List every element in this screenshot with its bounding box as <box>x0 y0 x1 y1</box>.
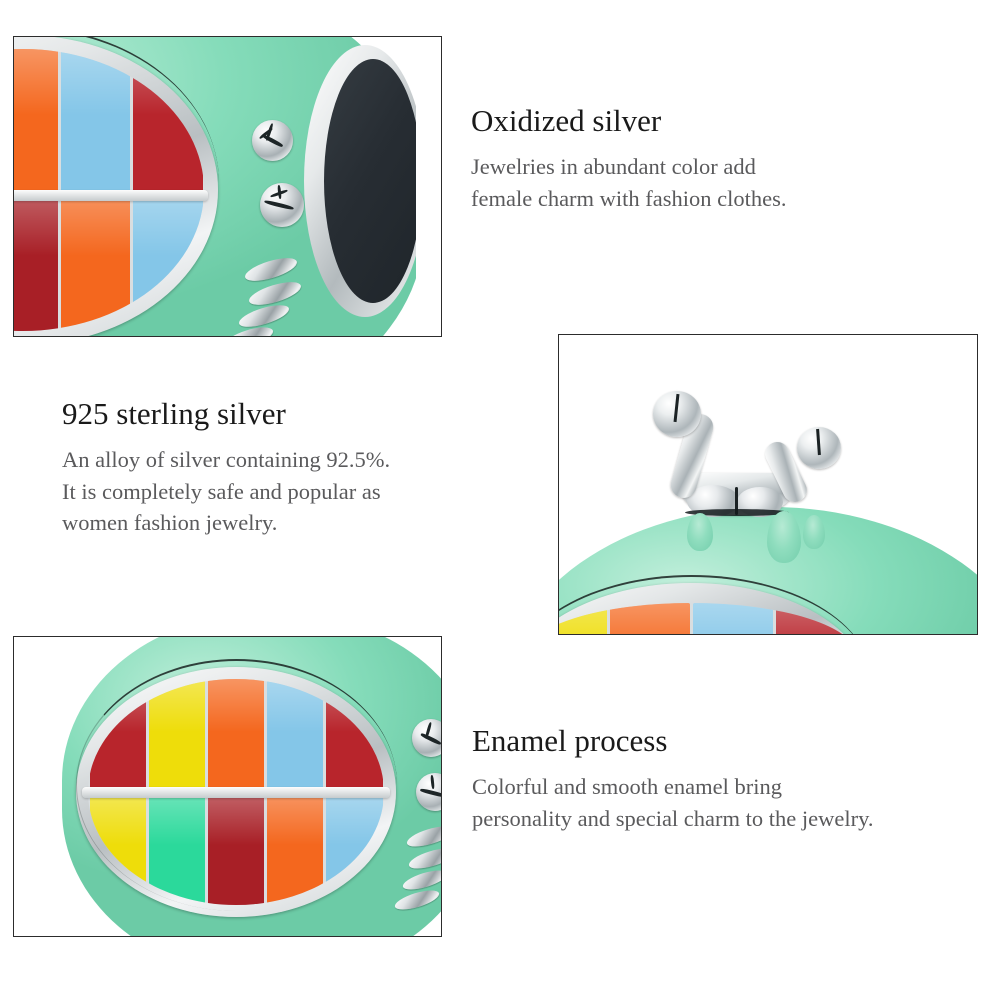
photo-panel-full-screen <box>13 636 442 937</box>
screen-row-bottom <box>88 794 384 905</box>
enamel-screen <box>559 603 857 634</box>
antenna-tip-left <box>653 391 701 437</box>
enamel-bar <box>61 49 130 192</box>
feature-body: Jewelries in abundant color add female c… <box>471 151 991 215</box>
screen-row-top <box>559 603 857 634</box>
enamel-bar <box>267 679 323 794</box>
photo-full-screen <box>14 637 441 936</box>
feature-body-line: It is completely safe and popular as <box>62 476 532 508</box>
enamel-bar <box>208 679 264 794</box>
enamel-bar <box>61 192 130 331</box>
photo-panel-screen-closeup <box>13 36 442 337</box>
screen-divider <box>14 190 208 201</box>
feature-text-sterling-silver: 925 sterling silver An alloy of silver c… <box>62 396 532 539</box>
enamel-bar <box>326 679 382 794</box>
feature-body: Colorful and smooth enamel bring persona… <box>472 771 1001 835</box>
enamel-bar <box>133 192 202 331</box>
enamel-bar <box>776 603 856 634</box>
enamel-bar <box>133 49 202 192</box>
enamel-bar <box>14 192 58 331</box>
photo-panel-antenna <box>558 334 978 635</box>
feature-heading: 925 sterling silver <box>62 396 532 433</box>
tv-knob <box>260 183 304 227</box>
threading-hole <box>324 59 422 303</box>
feature-body-line: Colorful and smooth enamel bring <box>472 771 1001 803</box>
enamel-bar <box>610 603 690 634</box>
feature-text-oxidized-silver: Oxidized silver Jewelries in abundant co… <box>471 103 991 214</box>
enamel-bar <box>149 794 205 905</box>
enamel-bar <box>14 49 58 192</box>
feature-body-line: female charm with fashion clothes. <box>471 183 991 215</box>
feature-body-line: Jewelries in abundant color add <box>471 151 991 183</box>
tv-knob <box>252 120 293 161</box>
screen-divider <box>82 787 390 798</box>
enamel-bar <box>90 794 146 905</box>
antenna-tip-right <box>797 427 841 469</box>
screen-row-bottom <box>14 192 204 331</box>
enamel-bar <box>559 603 607 634</box>
photo-antenna <box>559 335 977 634</box>
enamel-bar <box>267 794 323 905</box>
feature-body-line: personality and special charm to the jew… <box>472 803 1001 835</box>
feature-body-line: women fashion jewelry. <box>62 507 532 539</box>
feature-heading: Enamel process <box>472 723 1001 760</box>
enamel-drip <box>803 515 825 549</box>
enamel-bar <box>326 794 382 905</box>
photo-white-right-edge <box>416 37 441 336</box>
feature-heading: Oxidized silver <box>471 103 991 140</box>
enamel-bar <box>208 794 264 905</box>
screen-row-top <box>88 679 384 794</box>
infographic-stage: Oxidized silver Jewelries in abundant co… <box>0 0 1001 1001</box>
enamel-drip <box>687 513 713 551</box>
feature-text-enamel-process: Enamel process Colorful and smooth ename… <box>472 723 1001 834</box>
enamel-bar <box>149 679 205 794</box>
enamel-bar <box>693 603 773 634</box>
photo-screen-closeup <box>14 37 441 336</box>
screen-row-top <box>14 49 204 192</box>
feature-body: An alloy of silver containing 92.5%. It … <box>62 444 532 540</box>
feature-body-line: An alloy of silver containing 92.5%. <box>62 444 532 476</box>
enamel-bar <box>90 679 146 794</box>
